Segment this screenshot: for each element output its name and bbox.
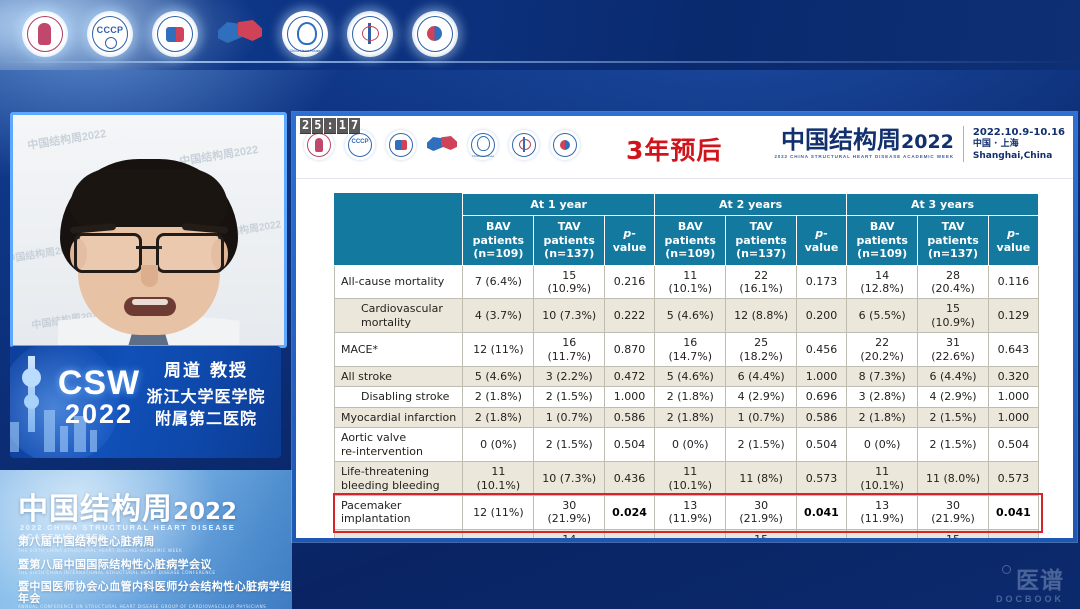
table-row: New atrial fibrillation5 (4.6%)14 (10.2%… xyxy=(335,529,1039,538)
group-header-3years: At 3 years xyxy=(847,194,1039,216)
table-cell: 2 (1.8%) xyxy=(847,407,918,427)
table-cell: 0.129 xyxy=(988,299,1038,333)
table-cell: 15 (10.9%) xyxy=(534,265,604,299)
table-cell: 0.456 xyxy=(796,333,846,367)
banner-underline xyxy=(0,61,1080,63)
table-corner-cell xyxy=(335,194,463,266)
row-label: Life-threateningbleeding bleeding xyxy=(335,462,463,496)
table-cell: 14 (10.2%) xyxy=(534,529,604,538)
table-cell: 4 (3.7%) xyxy=(463,299,534,333)
table-cell: 0.472 xyxy=(604,367,654,387)
table-row: All stroke5 (4.6%)3 (2.2%)0.4725 (4.6%)6… xyxy=(335,367,1039,387)
table-cell: 3 (2.8%) xyxy=(847,387,918,407)
table-cell: 10 (7.3%) xyxy=(534,462,604,496)
table-cell: 0.173 xyxy=(796,265,846,299)
col-header-tav-group3: TAV patients(n=137) xyxy=(918,216,988,265)
table-cell: 3 (2.2%) xyxy=(534,367,604,387)
row-label: Myocardial infarction xyxy=(335,407,463,427)
table-row: Pacemakerimplantation12 (11%)30 (21.9%)0… xyxy=(335,495,1039,529)
row-label: All stroke xyxy=(335,367,463,387)
table-cell: 0.504 xyxy=(604,428,654,462)
speaker-portrait xyxy=(44,159,254,348)
table-body: All-cause mortality7 (6.4%)15 (10.9%)0.2… xyxy=(335,265,1039,538)
slide-brand-year: 2022 xyxy=(901,131,954,153)
table-cell: 5 (4.6%) xyxy=(463,367,534,387)
stream-timer: 2 5 : 1 7 xyxy=(300,118,360,134)
eyeglasses xyxy=(72,233,226,267)
table-cell: 0.586 xyxy=(796,407,846,427)
table-head: At 1 year At 2 years At 3 years BAV pati… xyxy=(335,194,1039,266)
table-cell: 0.573 xyxy=(988,462,1038,496)
group-header-2years: At 2 years xyxy=(655,194,847,216)
table-cell: 6 (5.5%) xyxy=(847,529,918,538)
table-cell: 12 (11%) xyxy=(463,495,534,529)
col-header-bav-group3: BAV patients(n=109) xyxy=(847,216,918,265)
table-cell: 5 (4.6%) xyxy=(463,529,534,538)
org-logo-heart-hands-icon xyxy=(217,11,263,57)
table-cell: 2 (1.8%) xyxy=(655,407,726,427)
table-cell: 22 (20.2%) xyxy=(847,333,918,367)
slide-brand-zh: 中国结构周 xyxy=(781,126,901,154)
table-cell: 30 (21.9%) xyxy=(726,495,796,529)
slide-org-logo-heart-hands-icon xyxy=(427,130,457,160)
slide-brand-block: 中国结构周2022 2022 CHINA STRUCTURAL HEART DI… xyxy=(774,126,1065,162)
timer-digit: 5 xyxy=(312,118,323,134)
table-cell: 4 (2.9%) xyxy=(726,387,796,407)
col-header-tav-group2: TAV patients(n=137) xyxy=(726,216,796,265)
table-cell: 0.643 xyxy=(988,333,1038,367)
table-cell: 15 (10.9%) xyxy=(726,529,796,538)
table-cell: 2 (1.8%) xyxy=(655,387,726,407)
org-logo-7-icon xyxy=(412,11,458,57)
speaker-affiliation-line2: 附属第二医院 xyxy=(136,408,276,430)
org-logo-3-icon xyxy=(152,11,198,57)
table-cell: 22 (16.1%) xyxy=(726,265,796,299)
table-cell: 5 (4.6%) xyxy=(655,299,726,333)
table-cell: 5 (4.6%) xyxy=(655,529,726,538)
slide-body: At 1 year At 2 years At 3 years BAV pati… xyxy=(296,179,1073,538)
row-label: Aortic valvere-intervention xyxy=(335,428,463,462)
table-cell: 2 (1.8%) xyxy=(463,387,534,407)
table-cell: 2 (1.5%) xyxy=(534,428,604,462)
col-header-bav-group2: BAV patients(n=109) xyxy=(655,216,726,265)
event-line-2-zh: 暨第八届中国国际结构性心脏病学会议 xyxy=(18,559,292,571)
slide-logo-row: CCCP China Heart House xyxy=(304,130,580,160)
table-cell: 11 (10.1%) xyxy=(463,462,534,496)
table-cell: 0.504 xyxy=(796,428,846,462)
table-cell: 2 (1.5%) xyxy=(534,387,604,407)
table-cell: 15 (10.9%) xyxy=(918,529,988,538)
table-cell: 2 (1.5%) xyxy=(918,407,988,427)
event-title-year: 2022 xyxy=(173,499,237,525)
table-cell: 16 (11.7%) xyxy=(534,333,604,367)
table-cell: 11 (8.0%) xyxy=(918,462,988,496)
table-cell: 31 (22.6%) xyxy=(918,333,988,367)
presentation-slide: 2 5 : 1 7 CCCP China Heart House 3年预后 xyxy=(296,116,1073,538)
table-cell: 0.070 xyxy=(796,529,846,538)
table-cell: 10 (7.3%) xyxy=(534,299,604,333)
speaker-name: 周道 教授 xyxy=(136,356,276,381)
table-cell: 11 (10.1%) xyxy=(847,462,918,496)
table-cell: 0.041 xyxy=(796,495,846,529)
table-cell: 0 (0%) xyxy=(463,428,534,462)
table-cell: 1.000 xyxy=(988,407,1038,427)
table-cell: 0.024 xyxy=(604,495,654,529)
table-cell: 6 (4.4%) xyxy=(726,367,796,387)
table-cell: 28 (20.4%) xyxy=(918,265,988,299)
presentation-slide-frame[interactable]: 2 5 : 1 7 CCCP China Heart House 3年预后 xyxy=(292,112,1077,542)
table-cell: 0.573 xyxy=(796,462,846,496)
speaker-text-block: 周道 教授 浙江大学医学院 附属第二医院 xyxy=(136,356,276,429)
table-cell: 13 (11.9%) xyxy=(847,495,918,529)
event-line-3-en: ANNUAL CONFERENCE ON STRUCTURAL HEART DI… xyxy=(18,604,292,609)
col-header-tav-group1: TAV patients(n=137) xyxy=(534,216,604,265)
table-cell: 11 (10.1%) xyxy=(655,265,726,299)
slide-title: 3年预后 xyxy=(626,131,722,167)
event-title-zh: 中国结构周 xyxy=(18,492,173,527)
backdrop-watermark: 中国结构周2022 xyxy=(26,125,107,153)
table-cell: 1.000 xyxy=(604,387,654,407)
col-header-pvalue-group2: p-value xyxy=(796,216,846,265)
table-cell: 0 (0%) xyxy=(847,428,918,462)
table-row: Aortic valvere-intervention0 (0%)2 (1.5%… xyxy=(335,428,1039,462)
table-cell: 0.200 xyxy=(796,299,846,333)
slide-org-logo-3-icon xyxy=(386,130,416,160)
table-row: All-cause mortality7 (6.4%)15 (10.9%)0.2… xyxy=(335,265,1039,299)
col-header-pvalue-group1: p-value xyxy=(604,216,654,265)
org-logo-6-icon xyxy=(347,11,393,57)
table-cell: 1 (0.7%) xyxy=(726,407,796,427)
table-cell: 0 (0%) xyxy=(655,428,726,462)
speaker-video-panel[interactable]: 中国结构周2022 中国结构周2022 中国结构周2022 中国结构周2022 … xyxy=(10,112,287,348)
table-cell: 0.216 xyxy=(604,265,654,299)
table-cell: 11 (8%) xyxy=(726,462,796,496)
group-header-1year: At 1 year xyxy=(463,194,655,216)
event-line-3-zh: 暨中国医师协会心血管内科医师分会结构性心脏病学组年会 xyxy=(18,581,292,604)
org-logo-1-icon xyxy=(22,11,68,57)
row-label: Pacemakerimplantation xyxy=(335,495,463,529)
table-cell: 16 (14.7%) xyxy=(655,333,726,367)
table-cell: 0.100 xyxy=(604,529,654,538)
table-row: MACE*12 (11%)16 (11.7%)0.87016 (14.7%)25… xyxy=(335,333,1039,367)
slide-header: CCCP China Heart House 3年预后 中国结构周2022 20… xyxy=(296,116,1073,179)
table-cell: 1.000 xyxy=(988,387,1038,407)
event-detail-lines: 第八届中国结构性心脏病周 THE SIXTH CHINA STRUCTURAL … xyxy=(18,536,292,609)
timer-digit: 2 xyxy=(300,118,311,134)
table-cell: 2 (1.5%) xyxy=(918,428,988,462)
table-cell: 0.586 xyxy=(604,407,654,427)
table-cell: 0.696 xyxy=(796,387,846,407)
slide-brand-date-block: 2022.10.9-10.16 中国 · 上海 Shanghai,China xyxy=(963,126,1065,162)
table-row: Myocardial infarction2 (1.8%)1 (0.7%)0.5… xyxy=(335,407,1039,427)
event-title: 中国结构周2022 xyxy=(18,484,237,528)
table-cell: 0.041 xyxy=(988,495,1038,529)
table-cell: 13 (11.9%) xyxy=(655,495,726,529)
slide-brand-zh-wrap: 中国结构周2022 xyxy=(774,128,954,152)
event-line-1-en: THE SIXTH CHINA STRUCTURAL HEART DISEASE… xyxy=(18,548,292,553)
table-cell: 30 (21.9%) xyxy=(534,495,604,529)
table-cell: 15 (10.9%) xyxy=(918,299,988,333)
docbook-watermark: 医谱 DOCBOOK xyxy=(1002,561,1064,595)
timer-digit: 7 xyxy=(349,118,360,134)
table-cell: 12 (8.8%) xyxy=(726,299,796,333)
table-cell: 0.436 xyxy=(604,462,654,496)
table-cell: 7 (6.4%) xyxy=(463,265,534,299)
slide-org-logo-7-icon xyxy=(550,130,580,160)
table-cell: 0.116 xyxy=(988,265,1038,299)
timer-digit: 1 xyxy=(337,118,348,134)
slide-org-logo-1-icon xyxy=(304,130,334,160)
event-line-2-en: THE SIXTH CHINA INTERNATIONAL STRUCTURAL… xyxy=(18,570,292,575)
table-cell: 5 (4.6%) xyxy=(655,367,726,387)
broadcast-screen: CCCP China Heart House 中国结构周2022 中国结构周20… xyxy=(0,0,1080,609)
watermark-en: DOCBOOK xyxy=(996,594,1064,604)
table-group-header-row: At 1 year At 2 years At 3 years xyxy=(335,194,1039,216)
col-header-pvalue-group3: p-value xyxy=(988,216,1038,265)
table-cell: 8 (7.3%) xyxy=(847,367,918,387)
table-cell: 0.320 xyxy=(988,367,1038,387)
outcomes-table: At 1 year At 2 years At 3 years BAV pati… xyxy=(334,193,1039,538)
row-label: Cardiovascularmortality xyxy=(335,299,463,333)
event-branding-panel: 中国结构周2022 2022 CHINA STRUCTURAL HEART DI… xyxy=(0,470,292,609)
event-place-en: Shanghai,China xyxy=(973,151,1065,163)
table-row: Cardiovascularmortality4 (3.7%)10 (7.3%)… xyxy=(335,299,1039,333)
slide-org-logo-china-heart-house-icon: China Heart House xyxy=(468,130,498,160)
table-cell: 2 (1.5%) xyxy=(726,428,796,462)
row-label: MACE* xyxy=(335,333,463,367)
table-cell: 25 (18.2%) xyxy=(726,333,796,367)
slide-org-logo-cccp-icon: CCCP xyxy=(345,130,375,160)
table-cell: 6 (5.5%) xyxy=(847,299,918,333)
table-row: Disabling stroke2 (1.8%)2 (1.5%)1.0002 (… xyxy=(335,387,1039,407)
org-logo-cccp-icon: CCCP xyxy=(87,11,133,57)
table-cell: 0.222 xyxy=(604,299,654,333)
slide-org-logo-6-icon xyxy=(509,130,539,160)
row-label: New atrial fibrillation xyxy=(335,529,463,538)
slide-brand-en: 2022 CHINA STRUCTURAL HEART DISEASE ACAD… xyxy=(774,155,954,160)
row-label: Disabling stroke xyxy=(335,387,463,407)
timer-colon: : xyxy=(324,118,335,134)
table-cell: 1 (0.7%) xyxy=(534,407,604,427)
watermark-dot-icon xyxy=(1002,565,1011,574)
table-cell: 11 (10.1%) xyxy=(655,462,726,496)
table-cell: 2 (1.8%) xyxy=(463,407,534,427)
table-cell: 6 (4.4%) xyxy=(918,367,988,387)
slide-brand-logo: 中国结构周2022 2022 CHINA STRUCTURAL HEART DI… xyxy=(774,128,954,160)
table-cell: 14 (12.8%) xyxy=(847,265,918,299)
speaker-info-bar: CSW 2022 周道 教授 浙江大学医学院 附属第二医院 xyxy=(10,346,281,458)
table-cell: 1.000 xyxy=(796,367,846,387)
org-logo-china-heart-house-icon: China Heart House xyxy=(282,11,328,57)
table-cell: 0.504 xyxy=(988,428,1038,462)
organization-logo-row: CCCP China Heart House xyxy=(22,11,458,57)
speaker-affiliation-line1: 浙江大学医学院 xyxy=(136,386,276,408)
event-place-zh: 中国 · 上海 xyxy=(973,139,1065,151)
top-logo-banner: CCCP China Heart House xyxy=(0,0,1080,70)
col-header-bav-group1: BAV patients(n=109) xyxy=(463,216,534,265)
table-cell: 4 (2.9%) xyxy=(918,387,988,407)
table-cell: 0.870 xyxy=(604,333,654,367)
table-cell: 12 (11%) xyxy=(463,333,534,367)
watermark-zh: 医谱 xyxy=(1016,561,1064,595)
table-row: Life-threateningbleeding bleeding11 (10.… xyxy=(335,462,1039,496)
table-cell: 30 (21.9%) xyxy=(918,495,988,529)
event-line-1-zh: 第八届中国结构性心脏病周 xyxy=(18,536,292,548)
row-label: All-cause mortality xyxy=(335,265,463,299)
event-date: 2022.10.9-10.16 xyxy=(973,126,1065,139)
table-cell: 0.129 xyxy=(988,529,1038,538)
